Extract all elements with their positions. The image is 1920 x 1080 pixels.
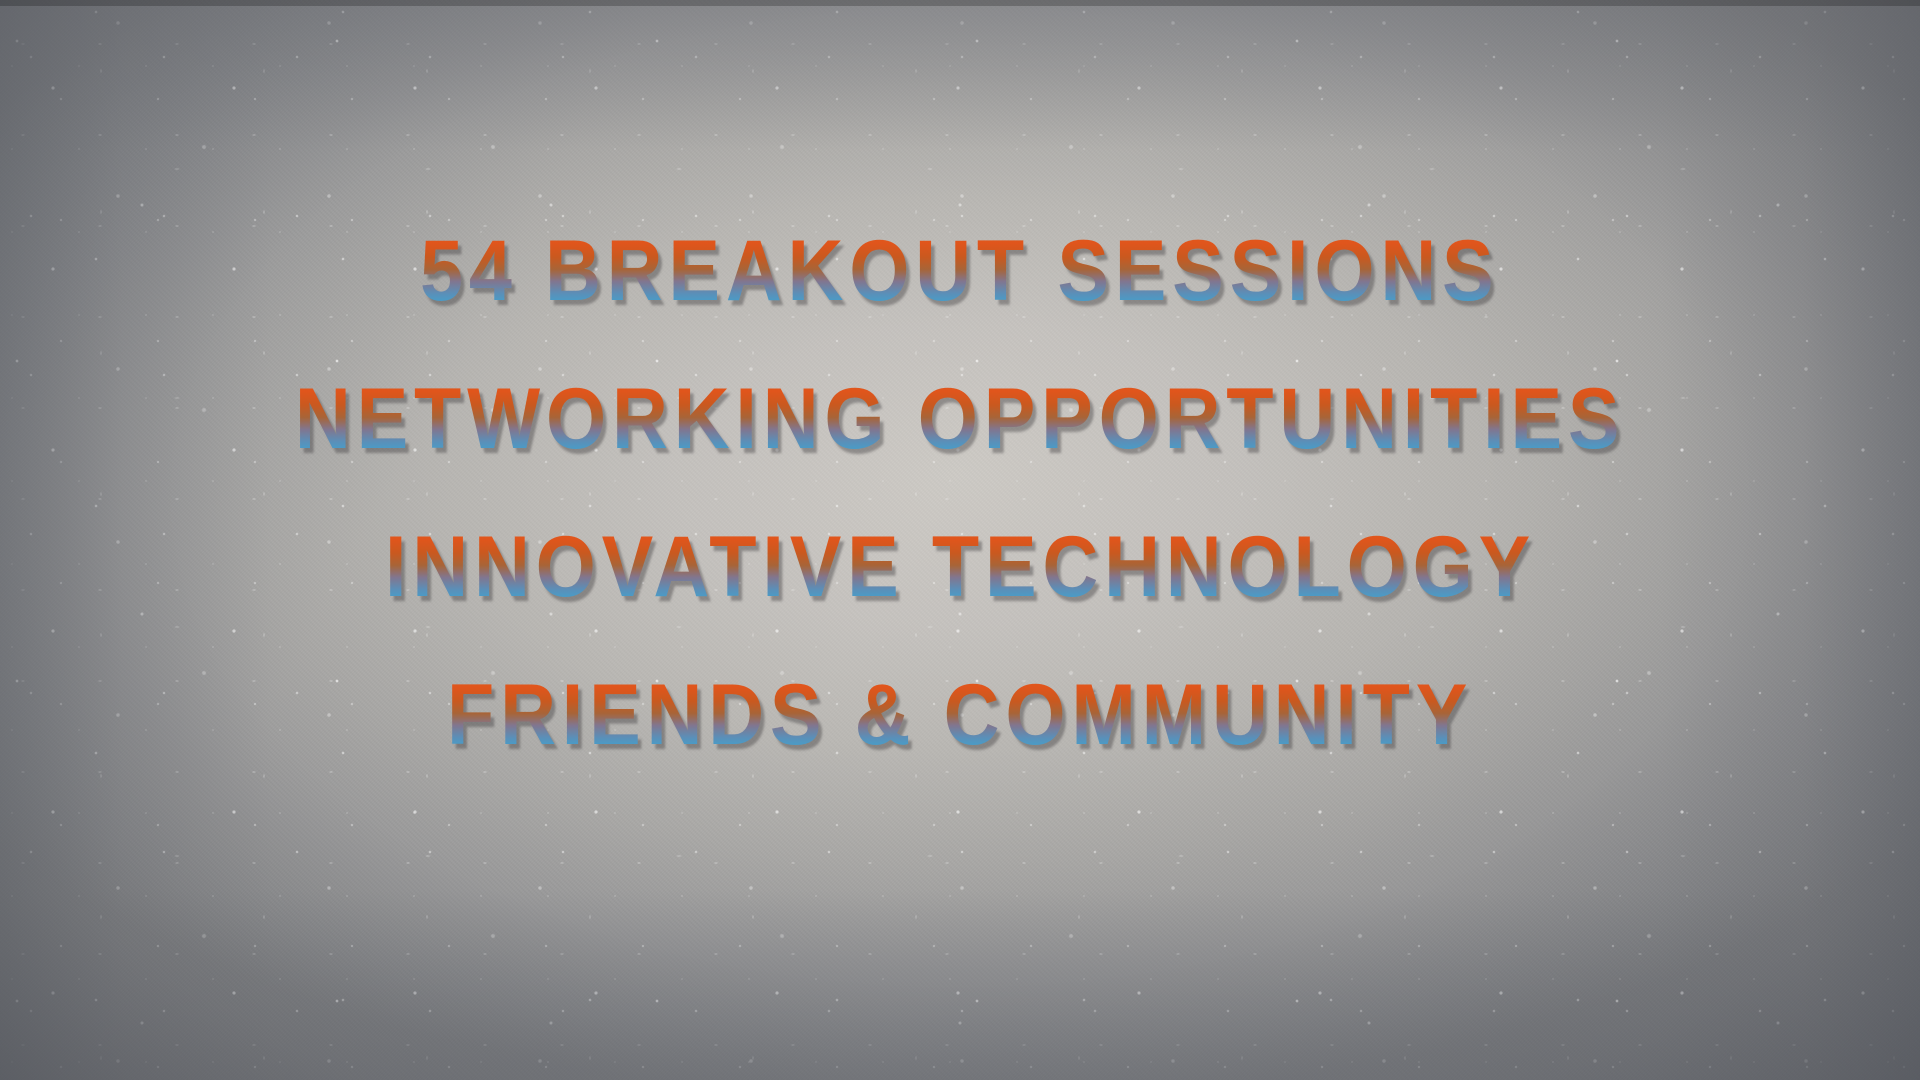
headline-line-networking-opportunities: NETWORKING OPPORTUNITIES NETWORKING OPPO… xyxy=(295,376,1625,480)
headline-line-innovative-technology: INNOVATIVE TECHNOLOGY INNOVATIVE TECHNOL… xyxy=(384,524,1535,628)
headline-line-friends-community: FRIENDS & COMMUNITY FRIENDS & COMMUNITY xyxy=(447,672,1473,776)
headline-block: 54 BREAKOUT SESSIONS 54 BREAKOUT SESSION… xyxy=(0,228,1920,776)
slide-canvas: 54 BREAKOUT SESSIONS 54 BREAKOUT SESSION… xyxy=(0,0,1920,1080)
headline-line-4-text: FRIENDS & COMMUNITY xyxy=(447,672,1473,758)
top-letterbox-edge xyxy=(0,0,1920,6)
headline-line-3-text: INNOVATIVE TECHNOLOGY xyxy=(384,524,1535,610)
headline-line-breakout-sessions: 54 BREAKOUT SESSIONS 54 BREAKOUT SESSION… xyxy=(420,228,1500,332)
headline-line-2-text: NETWORKING OPPORTUNITIES xyxy=(295,376,1625,462)
headline-line-1-text: 54 BREAKOUT SESSIONS xyxy=(420,228,1500,314)
